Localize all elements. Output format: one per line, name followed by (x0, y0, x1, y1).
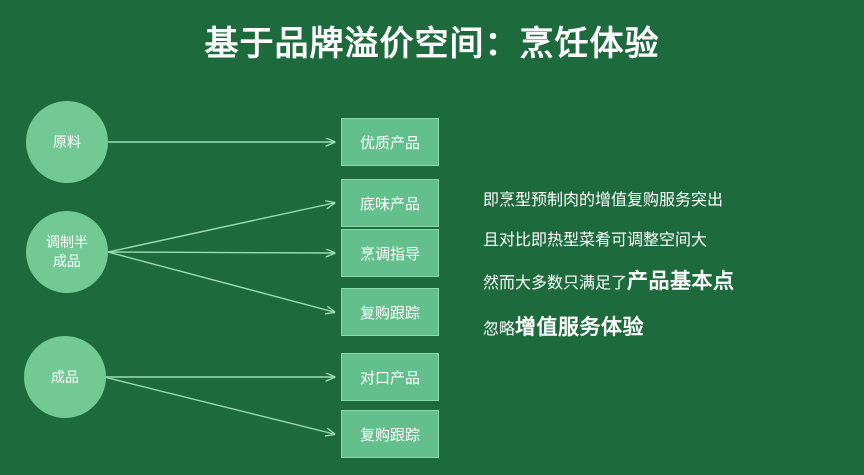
source-node-finished[interactable]: 成品 (24, 336, 106, 418)
output-box-matched-product[interactable]: 对口产品 (341, 353, 439, 401)
output-box-label: 底味产品 (360, 193, 420, 214)
output-box-base-flavor-product[interactable]: 底味产品 (341, 179, 439, 227)
output-box-quality-product[interactable]: 优质产品 (341, 118, 439, 166)
output-box-cooking-guide[interactable]: 烹调指导 (341, 229, 439, 277)
source-node-label: 调制半 成品 (46, 233, 88, 271)
slide-canvas: 基于品牌溢价空间：烹饪体验 原料 调制半 成品 成品 优质产品 底味产品 烹调指… (0, 0, 864, 475)
note-line-3: 然而大多数只满足了产品基本点 (483, 270, 843, 296)
note-line-3-prefix: 然而大多数只满足了 (483, 275, 627, 292)
output-box-label: 复购跟踪 (360, 302, 420, 323)
edge-semi-to-repurchase (108, 252, 334, 312)
note-line-4: 忽略增值服务体验 (483, 316, 843, 342)
note-line-3-emphasis: 产品基本点 (627, 270, 735, 293)
edge-finished-to-repurchase (104, 377, 334, 434)
source-node-raw-material[interactable]: 原料 (26, 101, 108, 183)
source-node-semi-finished[interactable]: 调制半 成品 (26, 211, 108, 293)
source-node-label: 成品 (51, 368, 79, 387)
output-box-label: 烹调指导 (360, 243, 420, 264)
note-line-4-prefix: 忽略 (483, 321, 515, 338)
edge-semi-to-cookguide (108, 252, 334, 253)
output-box-label: 对口产品 (360, 367, 420, 388)
output-box-repurchase-tracking-semi[interactable]: 复购跟踪 (341, 288, 439, 336)
note-line-1: 即烹型预制肉的增值复购服务突出 (483, 190, 843, 212)
note-line-4-emphasis: 增值服务体验 (515, 316, 644, 339)
page-title: 基于品牌溢价空间：烹饪体验 (0, 22, 864, 66)
output-box-label: 复购跟踪 (360, 424, 420, 445)
edge-semi-to-baseflavor (108, 203, 334, 252)
output-box-label: 优质产品 (360, 132, 420, 153)
output-box-repurchase-tracking-finished[interactable]: 复购跟踪 (341, 410, 439, 458)
notes-panel: 即烹型预制肉的增值复购服务突出 且对比即热型菜肴可调整空间大 然而大多数只满足了… (483, 190, 843, 362)
source-node-label: 原料 (53, 133, 81, 152)
note-line-2: 且对比即热型菜肴可调整空间大 (483, 230, 843, 252)
